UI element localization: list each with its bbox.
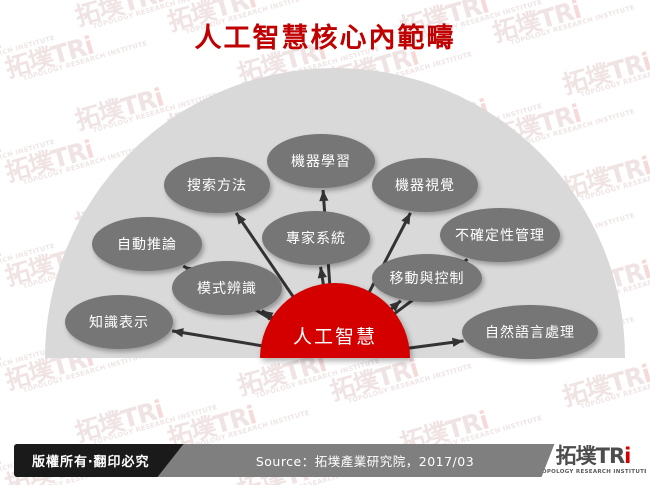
node-bubble[interactable]: 不確定性管理 [440, 208, 560, 262]
node-label: 自動推論 [117, 234, 177, 254]
arrow-to-node-1 [172, 328, 273, 348]
tri-logo-tagline: TOPOLOGY RESEARCH INSTITUTE [538, 469, 648, 475]
node-bubble[interactable]: 知識表示 [65, 295, 173, 349]
slide-root: 拓墣TRiTOPOLOGY RESEARCH INSTITUTE拓墣TRiTOP… [0, 0, 650, 485]
node-label: 知識表示 [89, 312, 149, 332]
node-label: 不確定性管理 [455, 225, 545, 245]
page-title: 人工智慧核心內範疇 [0, 16, 650, 55]
node-bubble[interactable]: 機器視覺 [372, 158, 478, 212]
node-label: 移動與控制 [390, 268, 465, 288]
node-label: 專家系統 [286, 228, 346, 248]
footer: Source：拓墣產業研究院，2017/03 版權所有‧翻印必究 拓墣TRi T… [0, 437, 650, 485]
node-label: 機器學習 [291, 151, 351, 171]
node-bubble[interactable]: 機器學習 [267, 134, 375, 188]
footer-copyright: 版權所有‧翻印必究 [14, 444, 184, 477]
footer-source-text: Source：拓墣產業研究院，2017/03 [200, 444, 530, 477]
node-bubble[interactable]: 自動推論 [92, 217, 202, 271]
node-bubble[interactable]: 移動與控制 [372, 254, 482, 302]
node-label: 搜索方法 [187, 175, 247, 195]
ai-scope-diagram: 人工智慧知識表示自動推論搜索方法模式辨識機器學習專家系統機器視覺移動與控制不確定… [0, 0, 650, 435]
node-bubble[interactable]: 搜索方法 [164, 157, 270, 213]
node-bubble[interactable]: 專家系統 [262, 211, 370, 265]
tri-logo: 拓墣TRi TOPOLOGY RESEARCH INSTITUTE [540, 440, 646, 481]
core-node-label: 人工智慧 [293, 322, 377, 358]
node-bubble[interactable]: 模式辨識 [172, 261, 282, 315]
tri-logo-wordmark: 拓墣TRi [556, 446, 631, 467]
node-label: 自然語言處理 [485, 322, 575, 342]
node-bubble[interactable]: 自然語言處理 [462, 305, 598, 359]
node-label: 機器視覺 [395, 175, 455, 195]
node-label: 模式辨識 [197, 278, 257, 298]
